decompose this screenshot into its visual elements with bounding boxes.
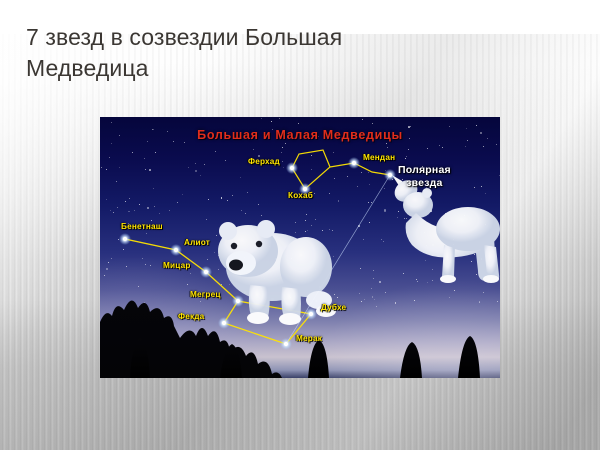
bear-cub-illustration (218, 220, 336, 325)
star-label-мегрец: Мегрец (190, 290, 221, 299)
star-label-дубхе: Дубхе (321, 303, 346, 312)
star-label-мендан: Мендан (363, 153, 395, 162)
star-label-алиот: Алиот (184, 238, 210, 247)
slide-title: 7 звезд в созвездии Большая Медведица (26, 22, 446, 84)
star-label-фекда: Фекда (178, 312, 204, 321)
polar-bear-illustration (390, 175, 500, 283)
constellation-image: Большая и Малая Медведицы (100, 117, 500, 378)
star-label-кохаб: Кохаб (288, 191, 313, 200)
star-label-polaris: Полярная звезда (398, 164, 451, 190)
star-label-мицар: Мицар (163, 261, 191, 270)
star-label-бенетнаш: Бенетнаш (121, 222, 163, 231)
star-label-мерак: Мерак (296, 334, 322, 343)
presentation-slide: 7 звезд в созвездии Большая Медведица Бо… (0, 0, 600, 450)
star-label-ферхад: Ферхад (248, 157, 280, 166)
